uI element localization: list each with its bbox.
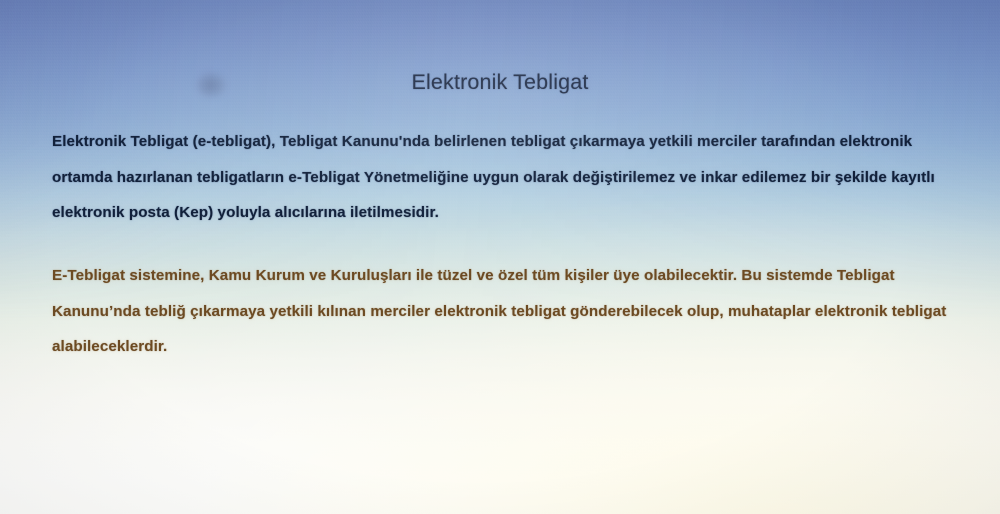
projected-slide: Elektronik Tebligat Elektronik Tebligat … bbox=[0, 0, 1000, 514]
slide-title: Elektronik Tebligat bbox=[0, 70, 1000, 95]
slide-content: Elektronik Tebligat Elektronik Tebligat … bbox=[0, 0, 1000, 514]
slide-paragraph-membership: E-Tebligat sistemine, Kamu Kurum ve Kuru… bbox=[52, 258, 964, 365]
slide-paragraph-definition: Elektronik Tebligat (e-tebligat), Teblig… bbox=[52, 124, 964, 231]
